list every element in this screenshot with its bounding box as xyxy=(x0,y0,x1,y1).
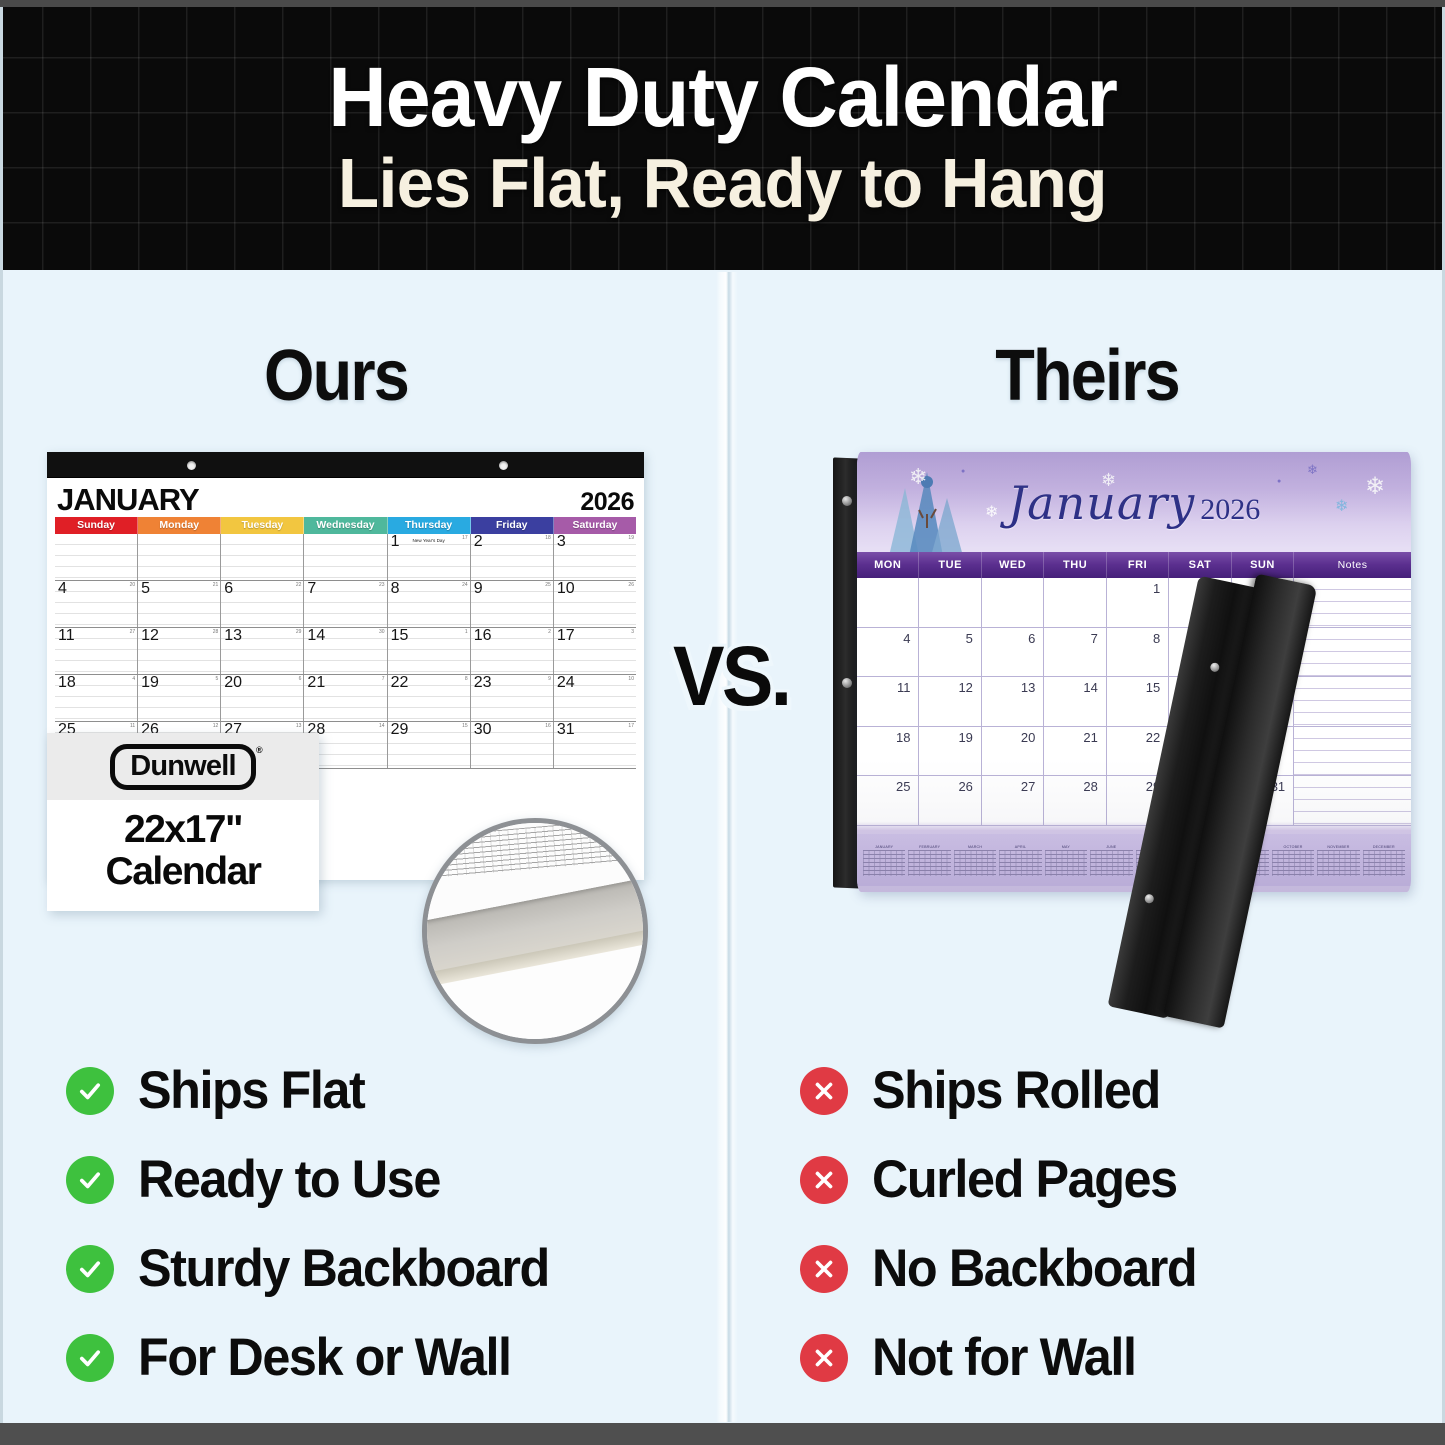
day-number: 11 xyxy=(58,628,75,645)
theirs-day-header-row: MONTUEWEDTHUFRISATSUNNotes xyxy=(857,552,1411,578)
calendar-dow-saturday: Saturday xyxy=(554,517,636,534)
theirs-mini-month-may: MAY xyxy=(1045,845,1087,876)
theirs-notes-cell xyxy=(1294,776,1411,825)
theirs-day-number: 19 xyxy=(958,730,972,745)
theirs-day-empty xyxy=(857,578,919,627)
theirs-mini-grid xyxy=(954,850,996,876)
theirs-day-6: 6 xyxy=(982,628,1044,677)
calendar-day-7: 723 xyxy=(304,581,387,627)
sparkle-icon: ● xyxy=(961,468,965,475)
day-number: 13 xyxy=(224,628,242,645)
x-circle-icon xyxy=(800,1156,848,1204)
calendar-day-17: 173 xyxy=(554,628,636,674)
theirs-day-number: 27 xyxy=(1021,779,1035,794)
calendar-day-5: 521 xyxy=(138,581,221,627)
lunar-date: 19 xyxy=(628,535,634,541)
theirs-day-number: 22 xyxy=(1146,730,1160,745)
theirs-day-empty xyxy=(1044,578,1106,627)
lunar-date: 18 xyxy=(545,535,551,541)
theirs-mini-month-october: OCTOBER xyxy=(1272,845,1314,876)
calendar-day-19: 195 xyxy=(138,675,221,721)
theirs-day-number: 5 xyxy=(966,631,973,646)
theirs-notes-cell xyxy=(1294,628,1411,677)
theirs-day-empty xyxy=(982,578,1044,627)
day-number: 21 xyxy=(307,675,325,692)
theirs-day-15: 15 xyxy=(1107,677,1169,726)
calendar-day-16: 162 xyxy=(471,628,554,674)
theirs-feature-list: Ships RolledCurled PagesNo BackboardNot … xyxy=(800,1046,1213,1402)
calendar-day-24: 2410 xyxy=(554,675,636,721)
theirs-day-5: 5 xyxy=(919,628,981,677)
calendar-day-3: 319 xyxy=(554,534,636,580)
theirs-mini-month-december: DECEMBER xyxy=(1363,845,1405,876)
theirs-day-21: 21 xyxy=(1044,727,1106,776)
lunar-date: 25 xyxy=(545,582,551,588)
day-number: 3 xyxy=(557,534,566,551)
theirs-mini-label: NOVEMBER xyxy=(1317,845,1359,849)
x-circle-icon xyxy=(800,1334,848,1382)
day-number: 17 xyxy=(557,628,575,645)
calendar-dow-sunday: Sunday xyxy=(55,517,138,534)
calendar-dow-friday: Friday xyxy=(471,517,554,534)
theirs-mini-label: APRIL xyxy=(999,845,1041,849)
day-number: 1 xyxy=(391,534,400,551)
theirs-day-empty xyxy=(919,578,981,627)
calendar-day-14: 1430 xyxy=(304,628,387,674)
feature-label: No Backboard xyxy=(872,1238,1196,1299)
theirs-mini-grid xyxy=(1090,850,1132,876)
holiday-note: New Year's Day xyxy=(412,538,444,543)
theirs-day-18: 18 xyxy=(857,727,919,776)
calendar-day-8: 824 xyxy=(388,581,471,627)
calendar-day-18: 184 xyxy=(55,675,138,721)
theirs-day-number: 18 xyxy=(896,730,910,745)
lunar-date: 12 xyxy=(213,723,219,729)
frame-bottom-edge xyxy=(0,1423,1445,1445)
theirs-mini-label: JANUARY xyxy=(863,845,905,849)
theirs-day-12: 12 xyxy=(919,677,981,726)
theirs-day-1: 1 xyxy=(1107,578,1169,627)
lunar-date: 21 xyxy=(213,582,219,588)
calendar-day-22: 228 xyxy=(388,675,471,721)
theirs-notes-header: Notes xyxy=(1294,552,1411,578)
feature-label: Sturdy Backboard xyxy=(138,1238,549,1299)
lunar-date: 13 xyxy=(296,723,302,729)
day-number: 8 xyxy=(391,581,400,598)
day-number: 18 xyxy=(58,675,76,692)
hang-hole-right xyxy=(499,461,508,470)
theirs-day-number: 4 xyxy=(903,631,910,646)
theirs-dow-tue: TUE xyxy=(919,552,981,578)
vs-badge: VS. xyxy=(673,628,789,725)
theirs-day-number: 7 xyxy=(1091,631,1098,646)
day-number: 16 xyxy=(474,628,492,645)
lunar-date: 26 xyxy=(628,582,634,588)
calendar-dow-wednesday: Wednesday xyxy=(304,517,387,534)
lunar-date: 1 xyxy=(465,629,468,635)
day-number: 2 xyxy=(474,534,483,551)
lunar-date: 22 xyxy=(296,582,302,588)
theirs-day-4: 4 xyxy=(857,628,919,677)
theirs-mini-month-march: MARCH xyxy=(954,845,996,876)
theirs-day-14: 14 xyxy=(1044,677,1106,726)
calendar-day-11: 1127 xyxy=(55,628,138,674)
lunar-date: 24 xyxy=(462,582,468,588)
x-circle-icon xyxy=(800,1245,848,1293)
theirs-week-row: 123 xyxy=(857,578,1411,628)
theirs-day-13: 13 xyxy=(982,677,1044,726)
lunar-date: 30 xyxy=(379,629,385,635)
theirs-winter-artwork: ❄ ❄ ❄ ❄ ❄ ❄ ● ● January2026 xyxy=(857,452,1411,556)
theirs-notes-cell xyxy=(1294,727,1411,776)
lunar-date: 5 xyxy=(216,676,219,682)
theirs-mini-month-june: JUNE xyxy=(1090,845,1132,876)
feature-label: Not for Wall xyxy=(872,1327,1136,1388)
check-circle-icon xyxy=(66,1334,114,1382)
lunar-date: 27 xyxy=(130,629,136,635)
hang-hole-left xyxy=(187,461,196,470)
lunar-date: 14 xyxy=(379,723,385,729)
theirs-day-number: 21 xyxy=(1083,730,1097,745)
theirs-month-title: January2026 xyxy=(857,476,1411,530)
calendar-week-row: 1127122813291430151162173 xyxy=(55,628,636,675)
calendar-binder-strip xyxy=(47,452,644,478)
theirs-notes-cell xyxy=(1294,677,1411,726)
calendar-day-empty xyxy=(138,534,221,580)
feature-row: For Desk or Wall xyxy=(66,1313,571,1402)
calendar-dow-tuesday: Tuesday xyxy=(221,517,304,534)
theirs-mini-grid xyxy=(999,850,1041,876)
calendar-day-21: 217 xyxy=(304,675,387,721)
theirs-day-25: 25 xyxy=(857,776,919,825)
feature-label: For Desk or Wall xyxy=(138,1327,511,1388)
theirs-day-number: 25 xyxy=(896,779,910,794)
badge-product-text: Calendar xyxy=(47,851,319,893)
binder-rivet-top xyxy=(842,496,852,506)
calendar-day-empty xyxy=(304,534,387,580)
theirs-mini-grid xyxy=(1045,850,1087,876)
theirs-month: January xyxy=(1008,476,1196,530)
theirs-day-number: 6 xyxy=(1028,631,1035,646)
theirs-day-number: 20 xyxy=(1021,730,1035,745)
lunar-date: 6 xyxy=(299,676,302,682)
theirs-dow-thu: THU xyxy=(1044,552,1106,578)
theirs-day-number: 11 xyxy=(897,680,911,695)
day-number: 14 xyxy=(307,628,325,645)
calendar-day-23: 239 xyxy=(471,675,554,721)
lunar-date: 11 xyxy=(130,723,135,729)
calendar-day-31: 3117 xyxy=(554,722,636,768)
lunar-date: 7 xyxy=(382,676,385,682)
theirs-day-26: 26 xyxy=(919,776,981,825)
lunar-date: 17 xyxy=(462,535,468,541)
theirs-day-number: 1 xyxy=(1153,581,1160,596)
day-number: 19 xyxy=(141,675,159,692)
feature-label: Ready to Use xyxy=(138,1149,440,1210)
theirs-dow-mon: MON xyxy=(857,552,919,578)
day-number: 20 xyxy=(224,675,242,692)
banner-title: Heavy Duty Calendar xyxy=(328,55,1116,141)
day-number: 29 xyxy=(391,722,409,739)
check-circle-icon xyxy=(66,1156,114,1204)
day-number: 30 xyxy=(474,722,492,739)
day-number: 7 xyxy=(307,581,316,598)
calendar-day-empty xyxy=(55,534,138,580)
feature-row: Not for Wall xyxy=(800,1313,1213,1402)
feature-row: Curled Pages xyxy=(800,1135,1213,1224)
theirs-mini-grid xyxy=(1272,850,1314,876)
day-number: 23 xyxy=(474,675,492,692)
dunwell-logo: Dunwell ® xyxy=(110,744,256,790)
calendar-dow-monday: Monday xyxy=(138,517,221,534)
lunar-date: 8 xyxy=(465,676,468,682)
theirs-year: 2026 xyxy=(1200,493,1260,526)
theirs-calendar-image: ❄ ❄ ❄ ❄ ❄ ❄ ● ● January2026 MONTUEWEDTHU… xyxy=(833,452,1411,912)
theirs-calendar-page: ❄ ❄ ❄ ❄ ❄ ❄ ● ● January2026 MONTUEWEDTHU… xyxy=(857,452,1411,892)
day-number: 31 xyxy=(557,722,575,739)
theirs-day-27: 27 xyxy=(982,776,1044,825)
calendar-week-row: 1841952062172282392410 xyxy=(55,675,636,722)
calendar-day-10: 1026 xyxy=(554,581,636,627)
lunar-date: 17 xyxy=(628,723,634,729)
badge-size-text: 22x17" xyxy=(47,809,319,851)
calendar-day-20: 206 xyxy=(221,675,304,721)
theirs-dow-wed: WED xyxy=(982,552,1044,578)
calendar-day-header-row: SundayMondayTuesdayWednesdayThursdayFrid… xyxy=(55,517,636,534)
lunar-date: 20 xyxy=(130,582,136,588)
theirs-mini-month-april: APRIL xyxy=(999,845,1041,876)
page-frame: Heavy Duty Calendar Lies Flat, Ready to … xyxy=(0,0,1445,1445)
lunar-date: 28 xyxy=(213,629,219,635)
backboard-magnifier-detail xyxy=(422,818,648,1044)
feature-row: Ships Rolled xyxy=(800,1046,1213,1135)
theirs-mini-label: DECEMBER xyxy=(1363,845,1405,849)
column-divider xyxy=(716,272,738,1422)
theirs-calendar-grid: 1234567891011121314151617181920212223242… xyxy=(857,578,1411,826)
calendar-dow-thursday: Thursday xyxy=(388,517,471,534)
theirs-mini-label: OCTOBER xyxy=(1272,845,1314,849)
feature-row: Ships Flat xyxy=(66,1046,571,1135)
day-number: 9 xyxy=(474,581,483,598)
feature-label: Ships Rolled xyxy=(872,1060,1160,1121)
feature-row: Ready to Use xyxy=(66,1135,571,1224)
calendar-day-4: 420 xyxy=(55,581,138,627)
theirs-day-11: 11 xyxy=(857,677,919,726)
feature-label: Curled Pages xyxy=(872,1149,1177,1210)
lunar-date: 2 xyxy=(548,629,551,635)
feature-label: Ships Flat xyxy=(138,1060,364,1121)
theirs-day-number: 12 xyxy=(958,680,972,695)
calendar-day-15: 151 xyxy=(388,628,471,674)
theirs-day-7: 7 xyxy=(1044,628,1106,677)
calendar-day-6: 622 xyxy=(221,581,304,627)
ours-feature-list: Ships FlatReady to UseSturdy BackboardFo… xyxy=(66,1046,571,1402)
theirs-week-row: 45678910 xyxy=(857,628,1411,678)
calendar-week-row: 117New Year's Day218319 xyxy=(55,534,636,581)
calendar-year: 2026 xyxy=(580,490,634,515)
day-number: 24 xyxy=(557,675,575,692)
theirs-mini-grid xyxy=(863,850,905,876)
calendar-day-2: 218 xyxy=(471,534,554,580)
theirs-mini-label: FEBRUARY xyxy=(908,845,950,849)
theirs-day-number: 8 xyxy=(1153,631,1160,646)
frame-top-edge xyxy=(0,0,1445,7)
x-circle-icon xyxy=(800,1067,848,1115)
binder-rivet-bottom xyxy=(842,678,852,688)
theirs-mini-month-november: NOVEMBER xyxy=(1317,845,1359,876)
calendar-day-29: 2915 xyxy=(388,722,471,768)
theirs-week-row: 25262728293031 xyxy=(857,776,1411,826)
calendar-day-empty xyxy=(221,534,304,580)
lunar-date: 9 xyxy=(548,676,551,682)
lunar-date: 3 xyxy=(631,629,634,635)
theirs-day-number: 13 xyxy=(1021,680,1035,695)
lunar-date: 10 xyxy=(628,676,634,682)
feature-row: Sturdy Backboard xyxy=(66,1224,571,1313)
theirs-mini-label: JUNE xyxy=(1090,845,1132,849)
feature-row: No Backboard xyxy=(800,1224,1213,1313)
header-banner: Heavy Duty Calendar Lies Flat, Ready to … xyxy=(0,6,1445,270)
theirs-heading: Theirs xyxy=(995,335,1179,417)
theirs-mini-month-january: JANUARY xyxy=(863,845,905,876)
day-number: 10 xyxy=(557,581,575,598)
check-circle-icon xyxy=(66,1245,114,1293)
day-number: 5 xyxy=(141,581,150,598)
theirs-day-19: 19 xyxy=(919,727,981,776)
day-number: 4 xyxy=(58,581,67,598)
day-number: 12 xyxy=(141,628,159,645)
theirs-mini-grid xyxy=(1317,850,1359,876)
theirs-day-number: 15 xyxy=(1146,680,1160,695)
theirs-day-20: 20 xyxy=(982,727,1044,776)
theirs-day-number: 14 xyxy=(1083,680,1097,695)
lunar-date: 4 xyxy=(132,676,135,682)
calendar-day-13: 1329 xyxy=(221,628,304,674)
brand-logo-band: Dunwell ® xyxy=(47,733,319,800)
frame-left-edge xyxy=(0,0,3,1445)
theirs-day-28: 28 xyxy=(1044,776,1106,825)
theirs-mini-month-february: FEBRUARY xyxy=(908,845,950,876)
theirs-mini-label: MAY xyxy=(1045,845,1087,849)
theirs-week-row: 18192021222324 xyxy=(857,727,1411,777)
theirs-day-number: 28 xyxy=(1083,779,1097,794)
theirs-week-row: 11121314151617 xyxy=(857,677,1411,727)
theirs-mini-grid xyxy=(1363,850,1405,876)
day-number: 22 xyxy=(391,675,409,692)
banner-subtitle: Lies Flat, Ready to Hang xyxy=(338,147,1107,221)
lunar-date: 16 xyxy=(545,723,551,729)
theirs-mini-label: MARCH xyxy=(954,845,996,849)
lunar-date: 15 xyxy=(462,723,468,729)
dunwell-product-badge: Dunwell ® 22x17" Calendar xyxy=(47,733,319,911)
lunar-date: 29 xyxy=(296,629,302,635)
calendar-week-row: 4205216227238249251026 xyxy=(55,581,636,628)
theirs-day-number: 26 xyxy=(958,779,972,794)
day-number: 6 xyxy=(224,581,233,598)
calendar-day-12: 1228 xyxy=(138,628,221,674)
theirs-day-8: 8 xyxy=(1107,628,1169,677)
brand-name: Dunwell xyxy=(130,750,236,782)
day-number: 15 xyxy=(391,628,409,645)
check-circle-icon xyxy=(66,1067,114,1115)
registered-mark-icon: ® xyxy=(256,746,262,756)
theirs-mini-grid xyxy=(908,850,950,876)
ours-heading: Ours xyxy=(264,335,408,417)
calendar-day-9: 925 xyxy=(471,581,554,627)
lunar-date: 23 xyxy=(379,582,385,588)
calendar-title-row: JANUARY 2026 xyxy=(55,484,636,517)
calendar-month: JANUARY xyxy=(57,484,199,515)
calendar-day-30: 3016 xyxy=(471,722,554,768)
calendar-day-1: 117New Year's Day xyxy=(388,534,471,580)
theirs-dow-fri: FRI xyxy=(1107,552,1169,578)
theirs-dow-sat: SAT xyxy=(1169,552,1231,578)
